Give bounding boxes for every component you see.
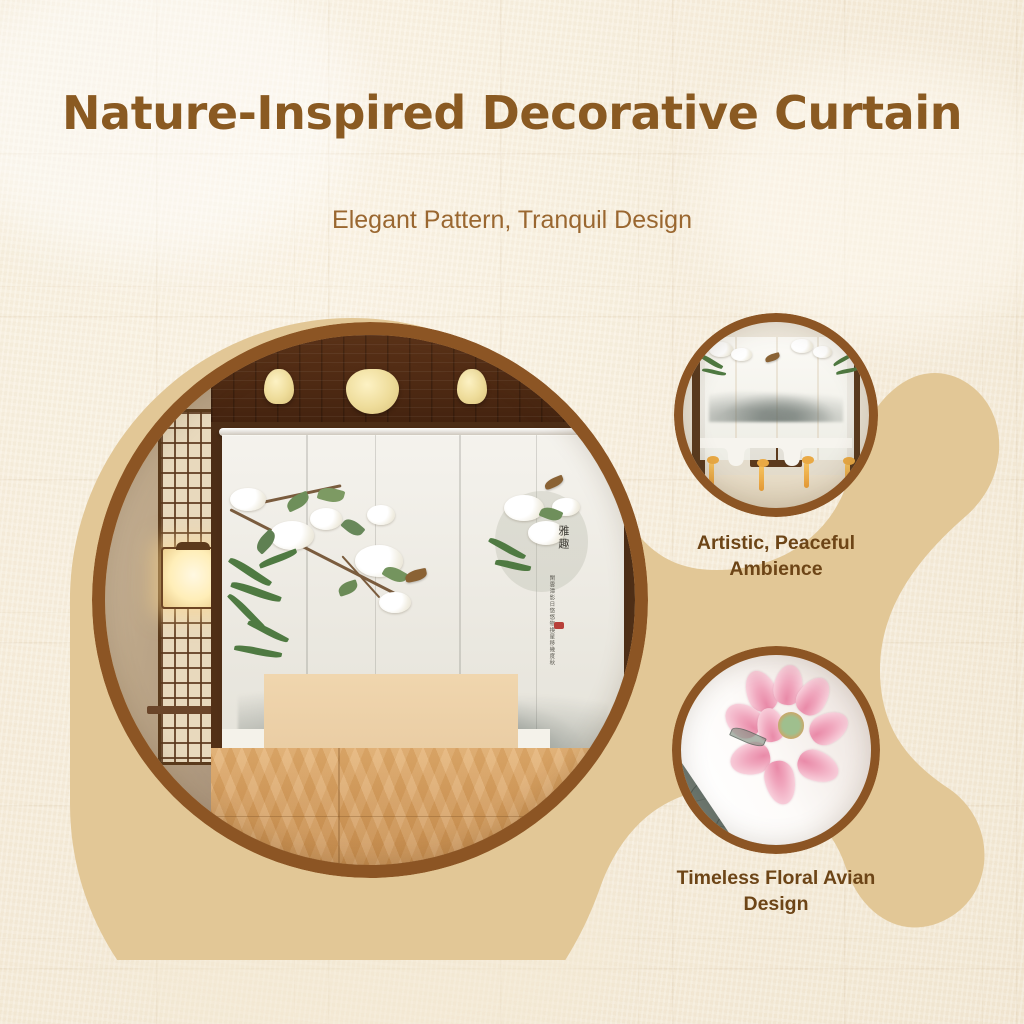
feature1-caption-line1: Artistic, Peaceful (640, 531, 912, 557)
feature-caption-timeless-floral: Timeless Floral Avian Design (628, 866, 924, 918)
page-title: Nature-Inspired Decorative Curtain (0, 86, 1024, 140)
feature2-photo-border (672, 646, 880, 854)
feature2-caption-line2: Design (628, 892, 924, 918)
feature2-caption-line1: Timeless Floral Avian (628, 866, 924, 892)
page-subtitle: Elegant Pattern, Tranquil Design (0, 206, 1024, 235)
main-photo-border (92, 322, 648, 878)
feature-photo-ring-artistic-peaceful (674, 313, 878, 517)
feature-photo-ring-timeless-floral (672, 646, 880, 854)
feature1-photo-border (674, 313, 878, 517)
feature-caption-artistic-peaceful: Artistic, Peaceful Ambience (640, 531, 912, 583)
main-product-photo-ring: 雅趣 閑雲潭影日悠悠物換星移幾度秋 (92, 322, 648, 878)
promo-poster: Nature-Inspired Decorative Curtain Elega… (0, 0, 1024, 1024)
feature1-caption-line2: Ambience (640, 557, 912, 583)
